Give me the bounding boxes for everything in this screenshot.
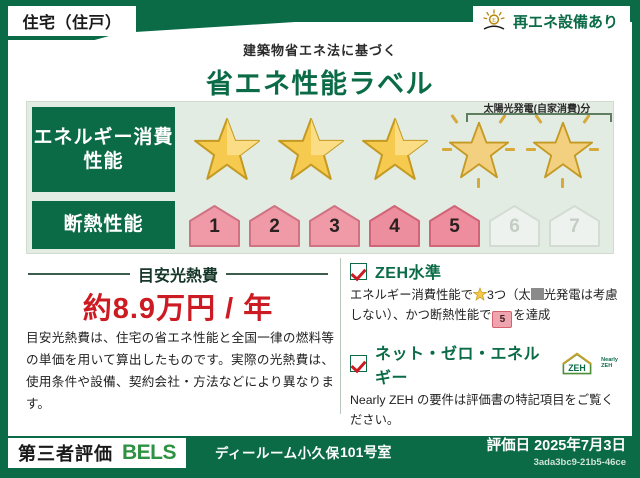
- svg-text:ZEH: ZEH: [568, 363, 586, 373]
- redacted-block: [531, 288, 544, 300]
- performance-panel: エネルギー消費性能: [26, 101, 614, 254]
- solar-ray: [505, 148, 515, 151]
- net-zero-heading: ネット・ゼロ・エネルギー ZEH Nearly ZEH: [350, 340, 618, 388]
- rule-right: [226, 273, 328, 275]
- svg-text:E: E: [492, 18, 496, 24]
- grade-item: 2: [247, 204, 302, 248]
- net-zero-title: ネット・ゼロ・エネルギー: [375, 340, 553, 388]
- solar-annotation: 太陽光発電(自家消費)分: [452, 100, 622, 115]
- house-type-tag: 住宅（住戸）: [8, 6, 136, 36]
- star-item: [355, 108, 435, 192]
- energy-category-label: エネルギー消費性能: [32, 107, 175, 192]
- grade-item: 4: [367, 204, 422, 248]
- insulation-performance-row: 断熱性能 1 2 3 4: [27, 198, 615, 255]
- evaluation-id: 3ada3bc9-21b5-46ce: [534, 457, 626, 468]
- zeh-standard-heading: ZEH水準: [350, 259, 618, 283]
- bels-ja-label: 第三者評価: [18, 440, 113, 466]
- bels-badge: 第三者評価 BELS: [8, 438, 186, 468]
- zeh-standard-title: ZEH水準: [375, 259, 442, 283]
- zeh-logo-sub: Nearly ZEH: [601, 358, 618, 370]
- insulation-category-label: 断熱性能: [32, 201, 175, 249]
- net-zero-body: Nearly ZEH の要件は評価書の特記項目をご覧ください。: [350, 391, 618, 431]
- evaluation-date: 評価日 2025年7月3日: [487, 434, 626, 455]
- renewable-badge-label: 再エネ設備あり: [513, 11, 618, 32]
- cost-note: 目安光熱費は、住宅の省エネ性能と全国一律の燃料等の単価を用いて算出したものです。…: [26, 327, 334, 415]
- cost-heading: 目安光熱費: [28, 262, 328, 286]
- column-divider: [340, 258, 341, 414]
- property-name: ディールーム小久保: [215, 442, 340, 462]
- zeh-block: ZEH水準 エネルギー消費性能で3つ（太光発電は考慮しない）、かつ断熱性能で5を…: [350, 259, 618, 431]
- zeh-logo-icon: ZEH: [561, 352, 593, 376]
- solar-ray: [526, 148, 536, 151]
- grade-item: 3: [307, 204, 362, 248]
- cost-value: 約8.9万円 / 年: [28, 285, 328, 327]
- solar-ray: [442, 148, 452, 151]
- solar-ray: [561, 178, 564, 188]
- renewable-equipment-badge: E 再エネ設備あり: [473, 6, 630, 36]
- grade-item: 1: [187, 204, 242, 248]
- inline-grade-badge: 5: [492, 311, 512, 328]
- solar-ray: [477, 178, 480, 188]
- rule-left: [28, 273, 130, 275]
- star-item: [187, 108, 267, 192]
- sun-icon: E: [481, 9, 507, 33]
- star-item: [271, 108, 351, 192]
- bels-en-label: BELS: [122, 441, 176, 465]
- inline-star-icon: [473, 287, 487, 301]
- grade-item: 6: [487, 204, 542, 248]
- grade-item: 5: [427, 204, 482, 248]
- zeh-standard-body: エネルギー消費性能で3つ（太光発電は考慮しない）、かつ断熱性能で5を達成: [350, 286, 618, 328]
- check-icon: [350, 355, 367, 372]
- energy-performance-label: 住宅（住戸） E 再エネ設備あり 建築物省エネ法に基づく 省エネ性能ラベル: [0, 0, 640, 478]
- solar-ray: [589, 148, 599, 151]
- insulation-grade-scale: 1 2 3 4 5: [187, 202, 602, 250]
- room-number: 101号室: [340, 442, 391, 462]
- grade-item: 7: [547, 204, 602, 248]
- check-icon: [350, 263, 367, 280]
